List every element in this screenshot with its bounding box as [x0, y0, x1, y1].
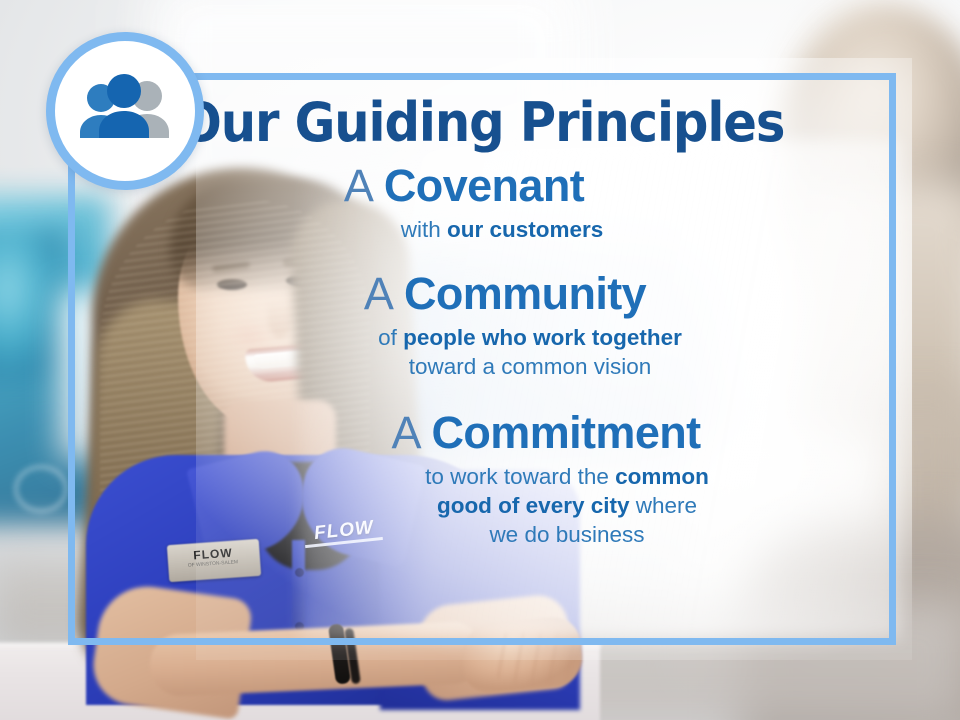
principle-keyword: Covenant — [384, 160, 584, 211]
principle-subtext: to work toward the common good of every … — [98, 462, 866, 550]
principle-subtext-line1-plain: of — [378, 325, 403, 350]
principle-subtext-line2-bold: good of every city — [437, 493, 630, 518]
principle-headline: A Community — [98, 270, 866, 319]
principle-subtext-line1-plain: to work toward the — [425, 464, 615, 489]
principle-article: A — [391, 407, 419, 458]
principle-subtext: of people who work together toward a com… — [98, 323, 866, 382]
principle-headline: A Covenant — [98, 162, 866, 211]
principle-community: A Community of people who work together … — [98, 270, 866, 381]
display-panel-highlight — [0, 230, 65, 380]
principle-subtext-line1-bold: people who work together — [403, 325, 682, 350]
guiding-principles-graphic: FLOW FLOW OF WINSTON-SALEM Our Guiding P… — [0, 0, 960, 720]
people-group-icon — [73, 74, 177, 148]
display-panel-logo — [14, 465, 68, 513]
principle-subtext-line3-plain: we do business — [489, 522, 644, 547]
principles-content: Our Guiding Principles A Covenant with o… — [68, 73, 896, 645]
principle-subtext-line2-plain: toward a common vision — [409, 354, 652, 379]
principle-article: A — [344, 160, 372, 211]
principle-headline: A Commitment — [98, 409, 866, 458]
principle-subtext-line2-plain: where — [630, 493, 698, 518]
principle-subtext-line1-plain: with — [401, 217, 447, 242]
people-badge — [46, 32, 204, 190]
principle-keyword: Commitment — [432, 407, 701, 458]
page-title: Our Guiding Principles — [129, 95, 836, 150]
principle-article: A — [364, 268, 392, 319]
principle-commitment: A Commitment to work toward the common g… — [98, 409, 866, 549]
principle-subtext: with our customers — [98, 215, 866, 244]
principle-subtext-line1-bold: common — [615, 464, 709, 489]
principle-keyword: Community — [404, 268, 646, 319]
principle-subtext-line1-bold: our customers — [447, 217, 603, 242]
principle-covenant: A Covenant with our customers — [98, 162, 866, 244]
